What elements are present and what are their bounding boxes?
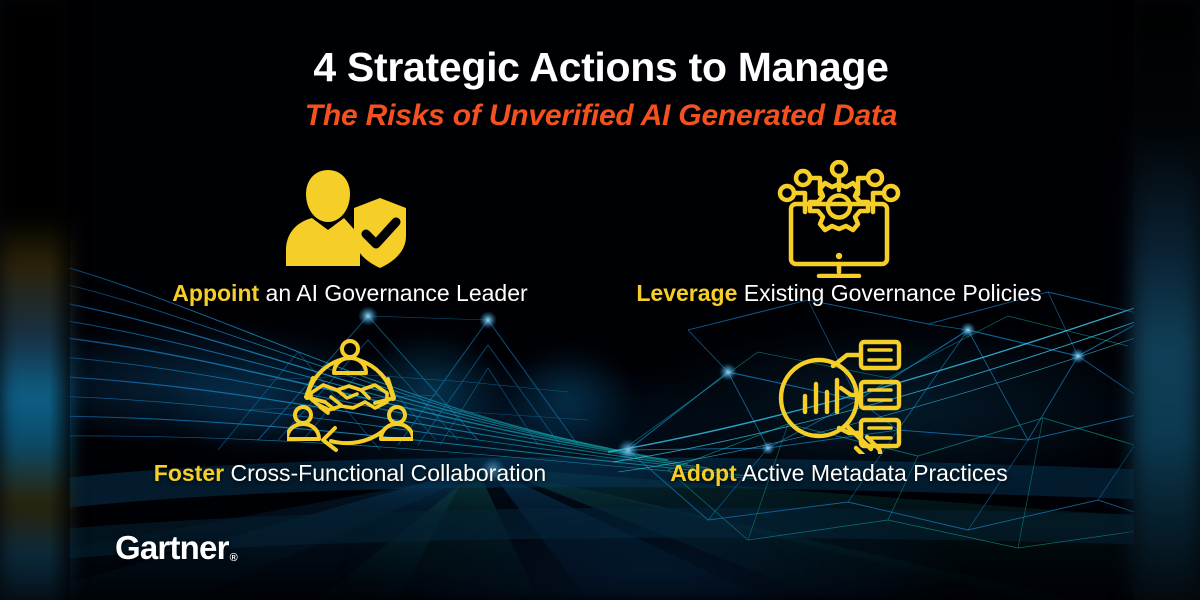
action-rest-foster: Cross-Functional Collaboration [224, 460, 546, 486]
action-lead-leverage: Leverage [636, 280, 737, 306]
gartner-logo: Gartner® [115, 529, 236, 567]
infographic-canvas: 4 Strategic Actions to Manage The Risks … [0, 0, 1200, 600]
person-shield-check-icon [284, 162, 416, 272]
handshake-collaboration-cycle-icon [287, 336, 413, 454]
action-label-adopt: Adopt Active Metadata Practices [600, 460, 1078, 487]
action-label-appoint: Appoint an AI Governance Leader [120, 280, 580, 307]
action-rest-appoint: an AI Governance Leader [259, 280, 528, 306]
action-label-leverage: Leverage Existing Governance Policies [600, 280, 1078, 307]
action-lead-adopt: Adopt [670, 460, 736, 486]
action-lead-appoint: Appoint [172, 280, 259, 306]
action-lead-foster: Foster [154, 460, 224, 486]
registered-trademark-mark: ® [230, 552, 237, 564]
gartner-logo-text: Gartner [115, 529, 229, 566]
actions-grid: Appoint an AI Governance Leader [0, 0, 1200, 600]
action-label-foster: Foster Cross-Functional Collaboration [120, 460, 580, 487]
action-rest-leverage: Existing Governance Policies [737, 280, 1041, 306]
action-rest-adopt: Active Metadata Practices [737, 460, 1008, 486]
monitor-gear-network-icon [775, 160, 903, 278]
magnifier-bar-chart-metadata-icon [775, 336, 903, 454]
